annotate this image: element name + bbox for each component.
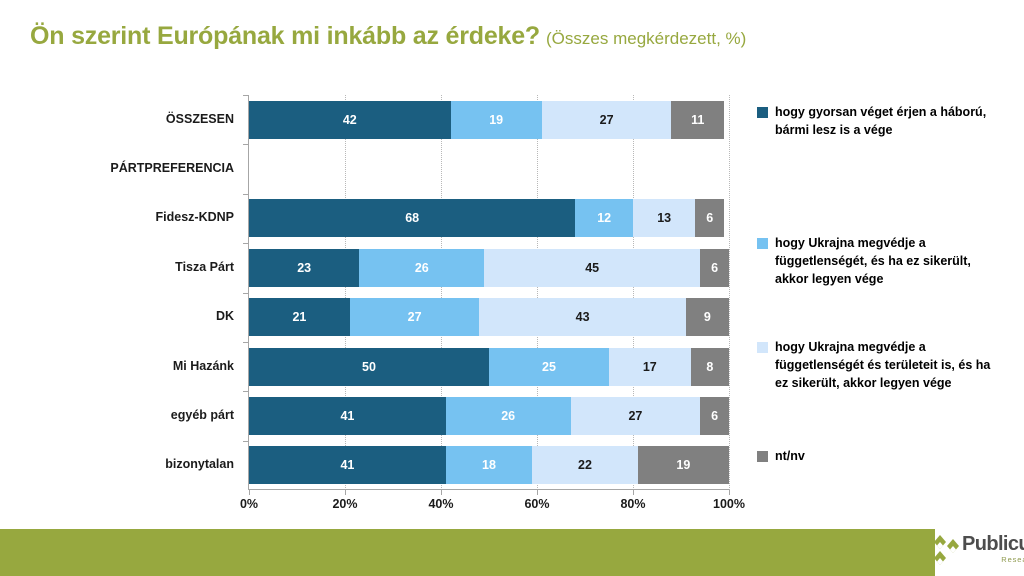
bar-segment: 6 [700, 397, 729, 435]
bar-segment: 18 [446, 446, 532, 484]
publicus-logo-text: Publicus Research [962, 534, 1024, 564]
bar-segment: 42 [249, 101, 451, 139]
bar-segment: 8 [691, 348, 729, 386]
bar-segment: 6 [695, 199, 724, 237]
category-axis-tick [243, 144, 249, 145]
axis-tick [729, 490, 730, 495]
bar-segment: 11 [671, 101, 724, 139]
category-axis-labels: ÖSSZESENPÁRTPREFERENCIAFidesz-KDNPTisza … [0, 95, 243, 490]
bar-segment: 50 [249, 348, 489, 386]
bar-segment: 26 [359, 249, 484, 287]
category-axis-tick [243, 391, 249, 392]
category-axis-line [248, 489, 729, 490]
bar-row: 42192711 [249, 101, 729, 139]
bar-segment: 23 [249, 249, 359, 287]
category-axis-tick [243, 194, 249, 195]
value-axis-tick-label: 20% [332, 497, 357, 511]
bar-segment: 27 [542, 101, 672, 139]
legend-item[interactable]: nt/nv [757, 448, 1019, 466]
value-axis-tick-label: 0% [240, 497, 258, 511]
bar-segment: 21 [249, 298, 350, 336]
bar-row: 5025178 [249, 348, 729, 386]
publicus-diamond-icon [931, 534, 963, 568]
bar-segment: 13 [633, 199, 695, 237]
bar-row: 2127439 [249, 298, 729, 336]
category-label: Mi Hazánk [0, 359, 243, 373]
legend-color-swatch [757, 342, 768, 353]
bar-segment: 26 [446, 397, 571, 435]
page-title: Ön szerint Európának mi inkább az érdeke… [30, 22, 990, 51]
bar-segment: 12 [575, 199, 633, 237]
category-axis-tick [243, 243, 249, 244]
category-label: Fidesz-KDNP [0, 210, 243, 224]
bar-row: 6812136 [249, 199, 729, 237]
bar-segment: 19 [451, 101, 542, 139]
category-axis-tick [243, 342, 249, 343]
bar-row: 2326456 [249, 249, 729, 287]
value-axis-labels: 0%20%40%60%80%100% [249, 491, 729, 515]
category-label: PÁRTPREFERENCIA [0, 161, 243, 175]
legend-item[interactable]: hogy Ukrajna megvédje a függetlenségét, … [757, 235, 1019, 288]
bar-segment: 9 [686, 298, 729, 336]
category-axis-tick [243, 293, 249, 294]
legend-color-swatch [757, 238, 768, 249]
title-subtitle-text: (Összes megkérdezett, %) [546, 29, 746, 48]
legend-label: hogy gyorsan véget érjen a háború, bármi… [775, 104, 993, 140]
footer-bar [0, 529, 935, 576]
category-label: bizonytalan [0, 457, 243, 471]
legend-item[interactable]: hogy gyorsan véget érjen a háború, bármi… [757, 104, 1019, 140]
legend-color-swatch [757, 451, 768, 462]
slide-canvas: Ön szerint Európának mi inkább az érdeke… [0, 0, 1024, 576]
value-axis-tick-label: 100% [713, 497, 745, 511]
bar-segment: 19 [638, 446, 729, 484]
legend-label: hogy Ukrajna megvédje a függetlenségét, … [775, 235, 993, 288]
value-axis-tick-label: 80% [620, 497, 645, 511]
bar-row: 41182219 [249, 446, 729, 484]
legend-color-swatch [757, 107, 768, 118]
bar-segment: 41 [249, 397, 446, 435]
category-label: ÖSSZESEN [0, 112, 243, 126]
bar-segment: 68 [249, 199, 575, 237]
value-axis-tick-label: 60% [524, 497, 549, 511]
title-main-text: Ön szerint Európának mi inkább az érdeke… [30, 22, 540, 50]
bar-segment: 45 [484, 249, 700, 287]
legend-label: nt/nv [775, 448, 993, 466]
bar-segment: 22 [532, 446, 638, 484]
gridline [729, 95, 730, 490]
legend-label: hogy Ukrajna megvédje a függetlenségét é… [775, 339, 993, 392]
value-axis-tick-label: 40% [428, 497, 453, 511]
bar-segment: 41 [249, 446, 446, 484]
bar-segment: 27 [571, 397, 701, 435]
category-axis-tick [243, 441, 249, 442]
bar-segment: 43 [479, 298, 685, 336]
category-label: egyéb párt [0, 408, 243, 422]
bar-segment: 27 [350, 298, 480, 336]
bar-segment: 6 [700, 249, 729, 287]
bar-segment: 17 [609, 348, 691, 386]
bar-segment: 25 [489, 348, 609, 386]
category-label: DK [0, 309, 243, 323]
plot-region: 4219271168121362326456212743950251784126… [249, 95, 729, 490]
legend-item[interactable]: hogy Ukrajna megvédje a függetlenségét é… [757, 339, 1019, 392]
logo-wordmark: Publicus [962, 534, 1024, 554]
bar-row: 4126276 [249, 397, 729, 435]
category-label: Tisza Párt [0, 260, 243, 274]
category-axis-tick [243, 95, 249, 96]
logo-tagline: Research [962, 555, 1024, 564]
